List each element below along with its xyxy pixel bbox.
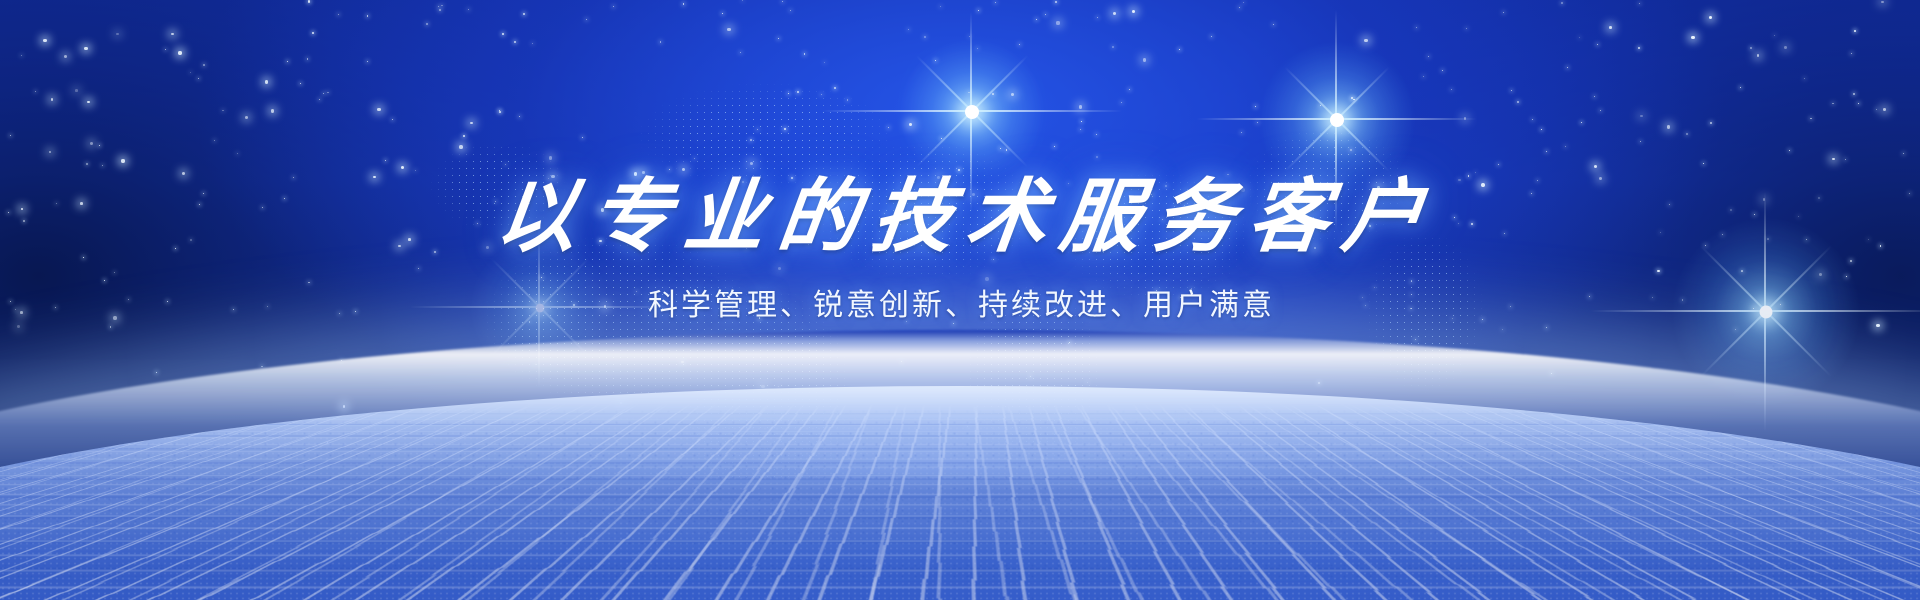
star [586,19,587,20]
star [968,92,969,93]
star [1851,53,1852,54]
star [1096,156,1098,158]
star [523,13,525,15]
star [271,109,275,113]
star [727,28,730,31]
flare-core [1330,113,1344,127]
star [1498,164,1499,165]
star [977,48,978,49]
star [1036,19,1037,20]
star [694,158,695,159]
star [178,51,181,54]
star [909,123,912,126]
star [784,128,786,130]
star [683,3,685,5]
star [121,159,124,162]
star [116,33,119,36]
star [319,99,320,100]
flare-horizontal-ray [1197,118,1477,120]
star [1551,373,1552,374]
star [459,145,463,149]
star [788,93,789,94]
star [86,163,88,165]
star [1789,150,1790,151]
star [1640,141,1641,142]
star [1740,87,1741,88]
star [308,0,310,2]
star [941,138,943,140]
star [1096,134,1097,135]
star [1710,122,1712,124]
city-street-grid [0,386,1920,404]
aerial-city-grid [0,386,1920,600]
star [1045,14,1046,15]
star [1273,24,1274,25]
star [327,442,328,443]
star [824,62,825,63]
star [1567,67,1569,69]
star [1600,110,1601,111]
star [505,164,506,165]
star [1423,76,1424,77]
star [343,405,346,408]
star [341,360,342,361]
star [1243,2,1245,4]
star [847,99,849,101]
star [1858,103,1859,104]
star [323,93,324,94]
star [1428,56,1429,57]
star [261,366,263,368]
star [1079,105,1082,108]
star [385,160,386,161]
flare-horizontal-ray [822,110,1122,112]
star [1415,339,1416,340]
star [1451,89,1452,90]
star [1350,149,1352,151]
star [1006,149,1008,151]
star [1132,10,1135,13]
star [1565,146,1566,147]
star [1257,122,1258,123]
star [1011,93,1014,96]
star [327,92,329,94]
star [995,2,996,3]
star [1735,329,1736,330]
star [1000,148,1001,149]
star [1241,132,1242,133]
star [1594,96,1595,97]
star [367,15,369,17]
star [87,101,90,104]
star [1810,118,1811,119]
star [804,53,806,55]
star [1832,158,1835,161]
star [1353,99,1355,101]
star [198,78,199,79]
star [1019,44,1020,45]
star [969,36,970,37]
star [222,110,224,112]
star [660,41,662,43]
star [1784,46,1787,49]
star [287,61,288,62]
star [51,98,54,101]
star [757,129,758,130]
hero-banner: 以专业的技术服务客户 科学管理、锐意创新、持续改进、用户满意 [0,0,1920,600]
star [1416,27,1417,28]
atmospheric-haze [0,300,1920,480]
star [441,5,443,7]
star [499,111,501,113]
flare-diagonal-ray-b [916,55,1028,167]
star [64,55,67,58]
star [1757,54,1760,57]
star [778,386,779,387]
star [613,6,614,7]
star [978,10,979,11]
star [888,127,889,128]
star [797,91,799,93]
star [1056,21,1059,24]
star [1597,44,1598,45]
star [102,165,103,166]
star [1143,58,1146,61]
star [312,32,314,34]
star [1502,329,1503,330]
star [1364,39,1367,42]
star [1609,26,1612,29]
city-light-speckle [0,406,1920,600]
star [35,91,36,92]
star [1532,119,1533,120]
star [499,110,500,111]
star [392,119,393,120]
flare-diagonal-ray-a [916,55,1028,167]
star [300,83,301,84]
flare-core [965,105,979,119]
star [1511,90,1512,91]
star [307,58,308,59]
banner-text-block: 以专业的技术服务客户 科学管理、锐意创新、持续改进、用户满意 [0,168,1920,326]
star [1638,47,1640,49]
star [90,142,93,145]
star [245,116,248,119]
star [1640,115,1643,118]
star [519,116,520,117]
flare-diagonal-ray-b [1284,67,1389,172]
star [1318,382,1320,384]
star [1517,101,1519,103]
star [84,47,88,51]
star [620,402,623,405]
star [110,326,112,328]
star [1081,121,1082,122]
star [1080,129,1081,130]
star [1546,151,1547,152]
star [1804,78,1806,80]
star [750,139,752,141]
star [1320,105,1321,106]
star [49,151,52,154]
star [1845,159,1846,160]
glowing-earth-horizon [0,330,1920,600]
star [1541,129,1542,130]
star [1667,125,1670,128]
star [438,6,439,7]
star [967,426,968,427]
star [1579,37,1580,38]
star [1239,7,1240,8]
star [1720,448,1721,449]
star [1881,1,1884,4]
star [1883,108,1886,111]
star [468,9,469,10]
star [367,61,368,62]
star [1351,97,1353,99]
star [1581,122,1582,123]
star [862,449,863,450]
star [761,385,765,389]
star [1546,327,1548,329]
star [1211,36,1212,37]
star [740,52,741,53]
star [940,6,941,7]
star [924,36,926,38]
star [21,55,22,56]
banner-subtitle: 科学管理、锐意创新、持续改进、用户满意 [0,286,1920,326]
star [549,156,553,160]
star [1903,153,1904,154]
star [1464,117,1467,120]
star [790,10,791,11]
star [214,140,215,141]
star [821,94,822,95]
star [1097,17,1098,18]
star [901,361,902,362]
star [171,33,174,36]
star [1774,35,1775,36]
star [470,122,473,125]
star [992,93,994,95]
star [1466,28,1467,29]
star [1112,46,1114,48]
star [1709,16,1712,19]
star [237,153,238,154]
star [834,87,836,89]
star [1030,376,1031,377]
star [43,39,47,43]
star [1876,109,1877,110]
star [265,80,268,83]
star [203,64,205,66]
star [1442,70,1443,71]
star [532,43,533,44]
star [1055,1,1057,3]
star [782,1,783,2]
star [426,23,428,25]
star [582,137,583,138]
star [338,14,339,15]
star [1087,382,1088,383]
star [750,162,753,165]
star [1054,146,1055,147]
star [1503,12,1504,13]
star [1703,163,1704,164]
star [742,0,743,1]
star [156,372,157,373]
star [439,9,441,11]
star [190,72,191,73]
star [1691,36,1695,40]
star [535,364,536,365]
star [681,361,683,363]
flare-diagonal-ray-a [1284,67,1389,172]
star [1750,47,1752,49]
star [502,33,504,35]
star [1113,12,1116,15]
star [377,108,380,111]
star [514,41,516,43]
star [778,38,779,39]
banner-headline: 以专业的技术服务客户 [0,168,1920,264]
star [99,145,100,146]
star [1121,102,1122,103]
star [935,60,936,61]
star [165,49,166,50]
star [1255,106,1256,107]
star [1853,93,1855,95]
star [75,89,78,92]
star [908,29,909,30]
star [463,135,465,137]
star [1639,3,1640,4]
star [1129,89,1130,90]
star [1832,103,1833,104]
flare-halo [897,37,1047,187]
star [1561,2,1563,4]
star [1069,342,1070,343]
star [10,135,11,136]
star [1686,133,1688,135]
star [722,13,723,14]
star [1854,30,1856,32]
star [1179,49,1180,50]
